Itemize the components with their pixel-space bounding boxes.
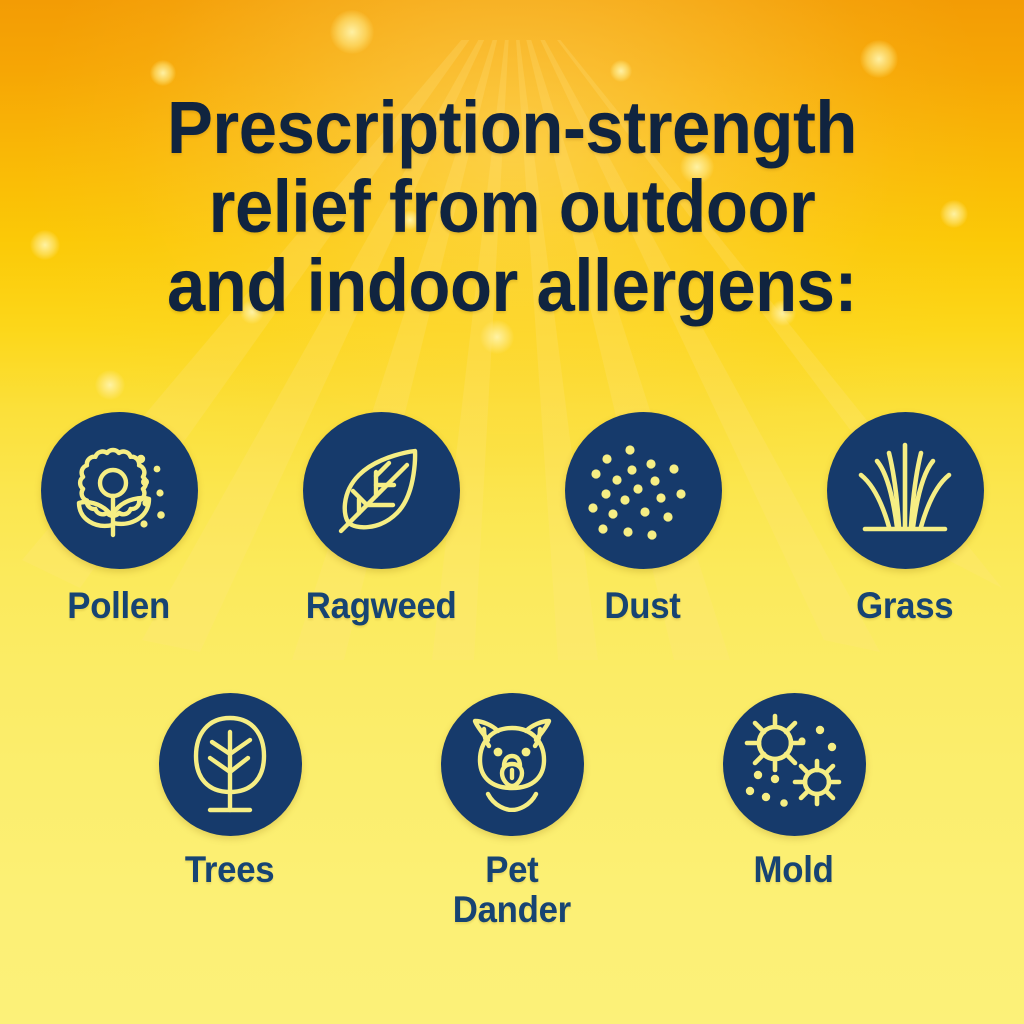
trees-disc	[159, 693, 302, 836]
allergen-tile-ragweed[interactable]: Ragweed	[299, 412, 463, 626]
allergen-relief-poster: Prescription-strength relief from outdoo…	[0, 0, 1024, 1024]
allergen-tile-grass[interactable]: Grass	[823, 412, 987, 626]
allergen-row-outdoor: Pollen Ragweed	[0, 412, 1024, 626]
grass-disc	[827, 412, 984, 569]
grass-blades-icon	[853, 439, 957, 543]
bokeh-light	[95, 370, 125, 400]
allergen-tile-dust[interactable]: Dust	[561, 412, 725, 626]
mold-spore-icon	[742, 713, 846, 817]
allergen-row-indoor: Trees	[0, 693, 1024, 930]
allergen-label: Grass	[856, 586, 953, 626]
pet-face-icon	[462, 718, 562, 812]
allergen-tile-pollen[interactable]: Pollen	[37, 412, 201, 626]
allergen-label: Pet Dander	[453, 850, 571, 930]
allergen-label: Trees	[185, 850, 274, 890]
allergen-label: Ragweed	[306, 586, 457, 626]
allergen-label: Dust	[605, 586, 681, 626]
leaf-icon	[331, 441, 431, 541]
tree-icon	[184, 714, 276, 816]
pet-dander-disc	[441, 693, 584, 836]
allergen-label: Mold	[754, 850, 834, 890]
bokeh-light	[860, 40, 898, 78]
flower-icon	[67, 439, 171, 543]
allergen-tile-trees[interactable]: Trees	[148, 693, 312, 930]
page-title: Prescription-strength relief from outdoo…	[36, 88, 988, 325]
bokeh-light	[330, 10, 374, 54]
bokeh-light	[610, 60, 632, 82]
dust-particles-icon	[588, 436, 698, 546]
ragweed-disc	[303, 412, 460, 569]
allergen-label: Pollen	[68, 586, 171, 626]
allergen-tile-pet-dander[interactable]: Pet Dander	[430, 693, 594, 930]
pollen-disc	[41, 412, 198, 569]
mold-disc	[723, 693, 866, 836]
dust-disc	[565, 412, 722, 569]
allergen-tile-mold[interactable]: Mold	[712, 693, 876, 930]
bokeh-light	[150, 60, 176, 86]
